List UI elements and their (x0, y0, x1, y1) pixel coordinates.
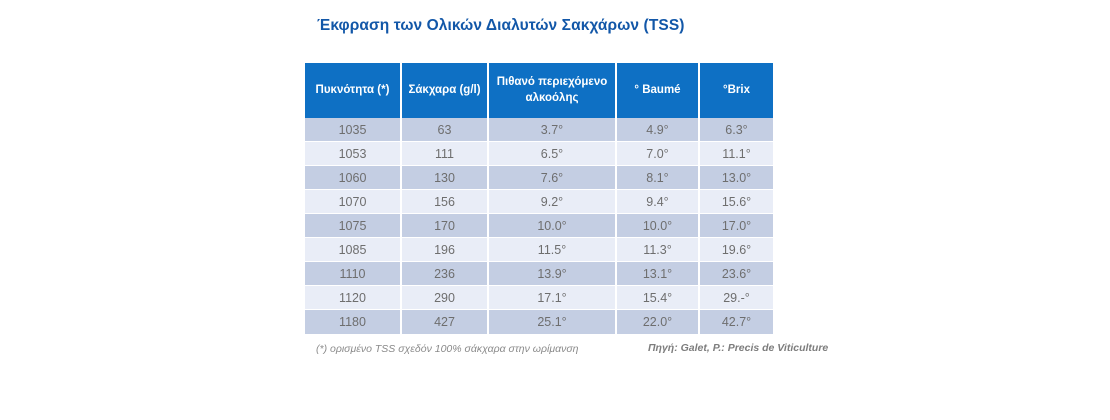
table-body: 1035 63 3.7° 4.9° 6.3° 1053 111 6.5° 7.0… (305, 118, 773, 334)
cell-potential-alcohol: 6.5° (489, 142, 617, 166)
cell-baume: 15.4° (617, 286, 700, 310)
cell-potential-alcohol: 17.1° (489, 286, 617, 310)
table-row: 1060 130 7.6° 8.1° 13.0° (305, 166, 773, 190)
cell-brix: 15.6° (700, 190, 773, 214)
cell-brix: 11.1° (700, 142, 773, 166)
cell-density: 1060 (305, 166, 402, 190)
cell-brix: 29.-° (700, 286, 773, 310)
cell-density: 1053 (305, 142, 402, 166)
cell-potential-alcohol: 25.1° (489, 310, 617, 334)
cell-potential-alcohol: 7.6° (489, 166, 617, 190)
cell-sugars: 130 (402, 166, 489, 190)
table-header-row: Πυκνότητα (*) Σάκχαρα (g/l) Πιθανό περιε… (305, 63, 773, 118)
cell-baume: 11.3° (617, 238, 700, 262)
table-row: 1075 170 10.0° 10.0° 17.0° (305, 214, 773, 238)
cell-baume: 13.1° (617, 262, 700, 286)
cell-potential-alcohol: 13.9° (489, 262, 617, 286)
cell-sugars: 196 (402, 238, 489, 262)
cell-baume: 22.0° (617, 310, 700, 334)
cell-baume: 8.1° (617, 166, 700, 190)
cell-sugars: 111 (402, 142, 489, 166)
table-row: 1053 111 6.5° 7.0° 11.1° (305, 142, 773, 166)
cell-sugars: 236 (402, 262, 489, 286)
cell-density: 1120 (305, 286, 402, 310)
cell-sugars: 63 (402, 118, 489, 142)
cell-baume: 4.9° (617, 118, 700, 142)
column-header-baume: ° Baumé (617, 63, 700, 118)
cell-brix: 13.0° (700, 166, 773, 190)
cell-potential-alcohol: 9.2° (489, 190, 617, 214)
cell-density: 1035 (305, 118, 402, 142)
table-row: 1110 236 13.9° 13.1° 23.6° (305, 262, 773, 286)
cell-potential-alcohol: 10.0° (489, 214, 617, 238)
cell-density: 1180 (305, 310, 402, 334)
cell-density: 1070 (305, 190, 402, 214)
cell-density: 1075 (305, 214, 402, 238)
cell-brix: 19.6° (700, 238, 773, 262)
cell-sugars: 156 (402, 190, 489, 214)
table-row: 1180 427 25.1° 22.0° 42.7° (305, 310, 773, 334)
tss-data-table: Πυκνότητα (*) Σάκχαρα (g/l) Πιθανό περιε… (305, 63, 773, 334)
cell-density: 1085 (305, 238, 402, 262)
table-footnote: (*) ορισμένο TSS σχεδόν 100% σάκχαρα στη… (316, 343, 578, 355)
column-header-potential-alcohol: Πιθανό περιεχόμενο αλκοόλης (489, 63, 617, 118)
table-source-note: Πηγή: Galet, P.: Precis de Viticulture (648, 342, 828, 354)
cell-baume: 10.0° (617, 214, 700, 238)
column-header-sugars: Σάκχαρα (g/l) (402, 63, 489, 118)
cell-baume: 7.0° (617, 142, 700, 166)
cell-brix: 6.3° (700, 118, 773, 142)
cell-density: 1110 (305, 262, 402, 286)
column-header-density: Πυκνότητα (*) (305, 63, 402, 118)
table-row: 1120 290 17.1° 15.4° 29.-° (305, 286, 773, 310)
cell-brix: 23.6° (700, 262, 773, 286)
cell-sugars: 170 (402, 214, 489, 238)
table-row: 1035 63 3.7° 4.9° 6.3° (305, 118, 773, 142)
table-row: 1085 196 11.5° 11.3° 19.6° (305, 238, 773, 262)
cell-potential-alcohol: 11.5° (489, 238, 617, 262)
cell-potential-alcohol: 3.7° (489, 118, 617, 142)
cell-sugars: 290 (402, 286, 489, 310)
cell-sugars: 427 (402, 310, 489, 334)
page-title: Έκφραση των Ολικών Διαλυτών Σακχάρων (TS… (317, 17, 685, 35)
cell-baume: 9.4° (617, 190, 700, 214)
column-header-brix: °Brix (700, 63, 773, 118)
cell-brix: 17.0° (700, 214, 773, 238)
table-row: 1070 156 9.2° 9.4° 15.6° (305, 190, 773, 214)
cell-brix: 42.7° (700, 310, 773, 334)
